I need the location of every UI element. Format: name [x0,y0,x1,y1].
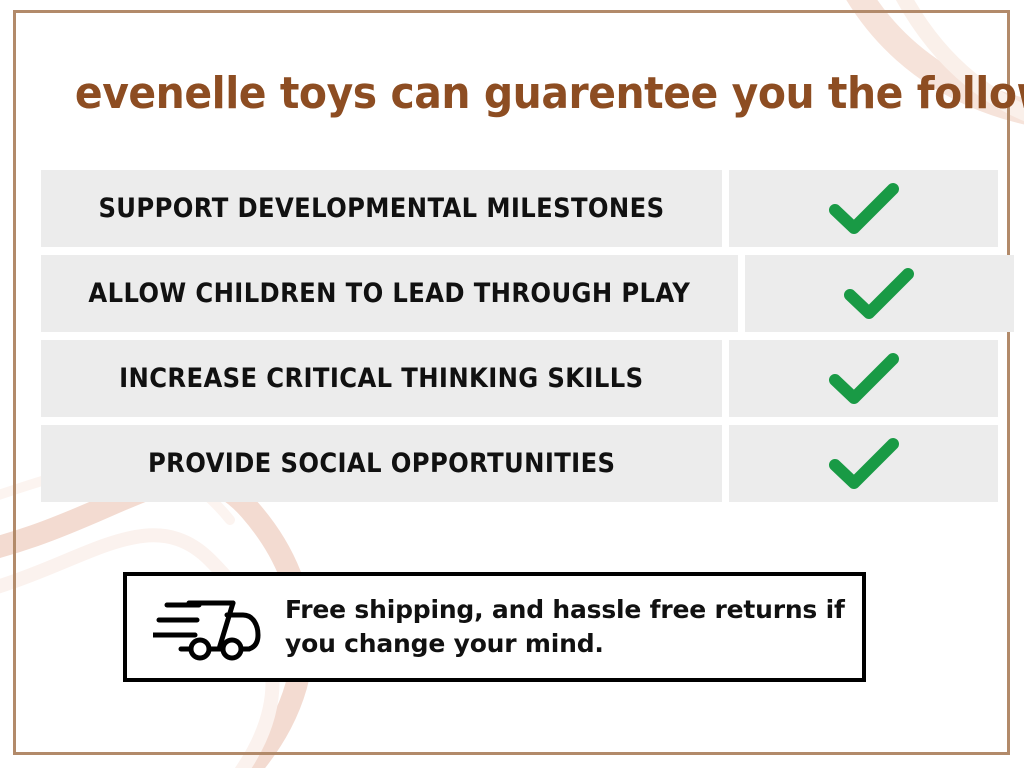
page-content: evenelle toys can guarentee you the foll… [0,0,1024,768]
guarantee-check-cell [729,425,998,502]
table-row: ALLOW CHILDREN TO LEAD THROUGH PLAY [41,255,998,332]
green-checkmark-icon [829,353,899,405]
guarantee-label: ALLOW CHILDREN TO LEAD THROUGH PLAY [88,278,690,309]
table-row: INCREASE CRITICAL THINKING SKILLS [41,340,998,417]
page-title: evenelle toys can guarentee you the foll… [75,68,949,120]
green-checkmark-icon [829,183,899,235]
guarantee-label-cell: INCREASE CRITICAL THINKING SKILLS [41,340,722,417]
shipping-notice-text: Free shipping, and hassle free returns i… [285,593,862,661]
shipping-notice-box: Free shipping, and hassle free returns i… [123,572,866,682]
guarantee-label: INCREASE CRITICAL THINKING SKILLS [119,363,643,394]
guarantee-table: SUPPORT DEVELOPMENTAL MILESTONES ALLOW C… [41,170,998,510]
guarantee-check-cell [729,340,998,417]
green-checkmark-icon [844,268,914,320]
table-row: PROVIDE SOCIAL OPPORTUNITIES [41,425,998,502]
guarantee-label-cell: PROVIDE SOCIAL OPPORTUNITIES [41,425,722,502]
guarantee-check-cell [745,255,1014,332]
guarantee-label: PROVIDE SOCIAL OPPORTUNITIES [148,448,615,479]
green-checkmark-icon [829,438,899,490]
guarantee-check-cell [729,170,998,247]
guarantee-label: SUPPORT DEVELOPMENTAL MILESTONES [99,193,665,224]
guarantee-label-cell: SUPPORT DEVELOPMENTAL MILESTONES [41,170,722,247]
table-row: SUPPORT DEVELOPMENTAL MILESTONES [41,170,998,247]
guarantee-label-cell: ALLOW CHILDREN TO LEAD THROUGH PLAY [41,255,738,332]
delivery-truck-icon [153,593,261,661]
